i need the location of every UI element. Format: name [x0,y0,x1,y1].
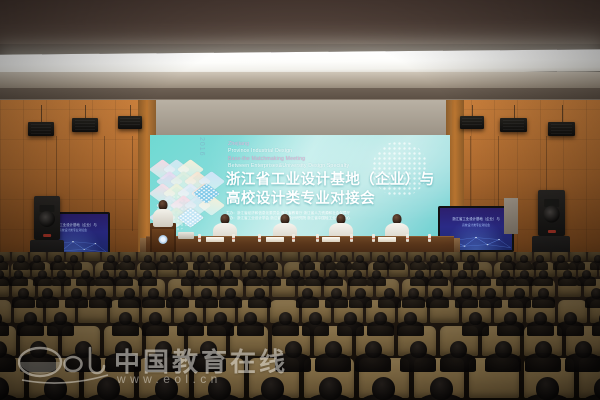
audience-member-head [536,255,544,263]
audience-member-head [186,270,195,279]
water-bottle [258,234,261,242]
audience-member-head [205,270,214,279]
audience-member-head [24,312,37,325]
banner-cn-line1: 浙江省工业设计基地（企业）与 [226,171,441,190]
audience-member-head [266,255,274,263]
audience-member-head [244,312,257,325]
audience-member-head [331,288,342,299]
audience-member-head [365,341,382,358]
audience-member-head [504,312,517,325]
audience-member-head [197,255,205,263]
speaker-woofer-right [543,206,560,223]
audience-member-head [329,270,338,279]
wall-conduit-line [132,136,133,231]
audience-member-head [303,255,311,263]
audience-member-head [119,312,132,325]
audience-member-head [450,341,467,358]
banner-en-line4: Between Enterprises&University Design Sp… [228,163,393,170]
audience-member-head [319,377,342,400]
audience-member-head [224,270,233,279]
audience-member-head [250,255,258,263]
audience-member-head [575,341,592,358]
audience-member-head [538,288,549,299]
audience-member-head [384,288,395,299]
audience-member-head [70,255,78,263]
auditorium-photo: 2016 Zhejiang Province Industrial Design… [0,0,600,400]
audience-member-head [42,288,53,299]
right-slide-subtitle: 高校设计类专业对接会 [444,223,507,227]
audience-member-head [520,270,529,279]
audience-member-head [404,312,417,325]
audience-member-head [467,255,475,263]
water-bottle [350,234,353,242]
watermark-url: www.eol.cn [117,372,222,386]
podium-speaker-body [153,209,173,227]
audience-member-head [410,341,427,358]
banner-chinese-title: 浙江省工业设计基地（企业）与 高校设计类专业对接会 [226,171,441,209]
audience-member-head [591,288,600,299]
audience-member-shoulders [0,321,9,335]
audience-member-head [54,255,62,263]
audience-member-head [38,270,47,279]
audience-member-head [430,255,438,263]
audience-member-head [310,270,319,279]
audience-member-head [514,288,525,299]
water-bottle [428,234,431,242]
audience-member-head [214,312,227,325]
audience-member-head [594,255,600,263]
audience-member-head [504,255,512,263]
audience-member-head [213,255,221,263]
audience-member-head [393,255,401,263]
audience-member-head [18,288,29,299]
audience-member-head [124,288,135,299]
water-bottle [372,234,375,242]
speaker-woofer-left [39,211,55,227]
audience-member-head [119,270,128,279]
speaker-hanging-wire [562,105,563,122]
audience-member-head [14,270,23,279]
ceiling-speaker-icon [28,122,54,136]
banner-en-line2: Province Industrial Design [228,148,393,155]
audience-member-head [100,270,109,279]
audience-member-head [267,270,276,279]
audience-member-head [446,255,454,263]
ceiling-speaker-icon [118,116,142,129]
laptop-on-table [178,232,194,239]
audience-member-head [564,312,577,325]
audience-member-head [95,288,106,299]
audience-member-head [520,255,528,263]
audience-member-head [176,255,184,263]
ceiling-speaker-icon [72,118,98,132]
audience-member-head [495,341,512,358]
audience-member-head [143,270,152,279]
audience-member-head [33,255,41,263]
pa-speaker-right [538,190,565,236]
water-bottle [316,234,319,242]
acoustic-panel-right [504,198,518,234]
audience-member-head [172,288,183,299]
audience-member-head [461,288,472,299]
audience-member-head [302,288,313,299]
audience-member-head [374,312,387,325]
banner-cn-line2: 高校设计类专业对接会 [226,190,441,209]
speaker-brand-logo-left [43,234,51,237]
audience-member-head [54,312,67,325]
audience-member-head [536,377,559,400]
speaker-brand-logo-right [547,230,555,233]
ceiling-slab [0,0,600,48]
audience-member-head [57,270,66,279]
audience-member-head [184,312,197,325]
audience-member-head [563,270,572,279]
auditorium-seat [282,252,298,261]
audience-member-head [372,377,395,400]
ceiling-speaker-icon [500,118,527,132]
audience-member-head [225,288,236,299]
audience-member-head [477,270,486,279]
audience-member-head [340,255,348,263]
eol-logo-icon [18,342,110,388]
audience-member-head [123,255,131,263]
speaker-hanging-wire [130,105,131,116]
speaker-hanging-wire [41,105,42,122]
audience-member-head [234,255,242,263]
ceiling-speaker-icon [460,116,484,129]
speaker-hanging-wire [85,105,86,118]
audience-member-head [107,255,115,263]
audience-member-head [372,270,381,279]
water-bottle [292,234,295,242]
audience-member-head [414,255,422,263]
name-placard [378,237,396,242]
audience-member-head [325,341,342,358]
audience-member-head [248,270,257,279]
back-wall-upper [148,100,452,136]
audience-member-head [279,312,292,325]
banner-year-vertical: 2016 [198,137,205,157]
audience-member-head [458,270,467,279]
audience-member-head [469,312,482,325]
audience-member-head [485,288,496,299]
audience-member-head [160,255,168,263]
auditorium-seat [84,252,100,261]
audience-member-head [149,312,162,325]
audience-member-head [71,288,82,299]
audience-member-head [573,255,581,263]
audience-member-head [582,270,591,279]
name-placard [266,237,284,242]
audience-member-head [534,312,547,325]
audience-member-head [344,312,357,325]
audience-member-head [355,288,366,299]
audience-member-head [144,255,152,263]
audience-member-head [434,270,443,279]
audience-member-head [557,255,565,263]
audience-member-head [408,288,419,299]
speaker-hanging-wire [514,105,515,118]
audience-member-head [254,288,265,299]
podium-emblem-icon [159,235,168,244]
speaker-hanging-wire [472,105,473,116]
watermark: 中国教育在线 www.eol.cn [18,340,318,392]
audience-member-shoulders [592,321,600,335]
banner-english-block: Zhejiang Province Industrial Design Base… [228,141,393,171]
audience-member-head [148,288,159,299]
audience-member-head [415,270,424,279]
pa-speaker-left [34,196,60,240]
audience-member-head [539,270,548,279]
audience-member-head [324,255,332,263]
name-placard [206,237,224,242]
audience-member-head [377,255,385,263]
ceiling-speaker-icon [548,122,575,136]
audience-member-head [353,270,362,279]
audience-member-head [432,288,443,299]
auditorium-seat [480,252,496,261]
audience-member-head [501,270,510,279]
name-placard [322,237,340,242]
podium-speaker [152,200,174,226]
audience-member-head [309,312,322,325]
water-bottle [232,234,235,242]
audience-member-head [356,255,364,263]
water-bottle [406,234,409,242]
audience-member-head [430,377,453,400]
water-bottle [198,234,201,242]
audience-member-head [201,288,212,299]
audience-member-head [291,270,300,279]
audience-member-head [17,255,25,263]
audience-member-head [535,341,552,358]
right-slide-title: 浙江省工业设计基地（企业）与 [444,217,507,222]
audience-member-head [81,270,90,279]
